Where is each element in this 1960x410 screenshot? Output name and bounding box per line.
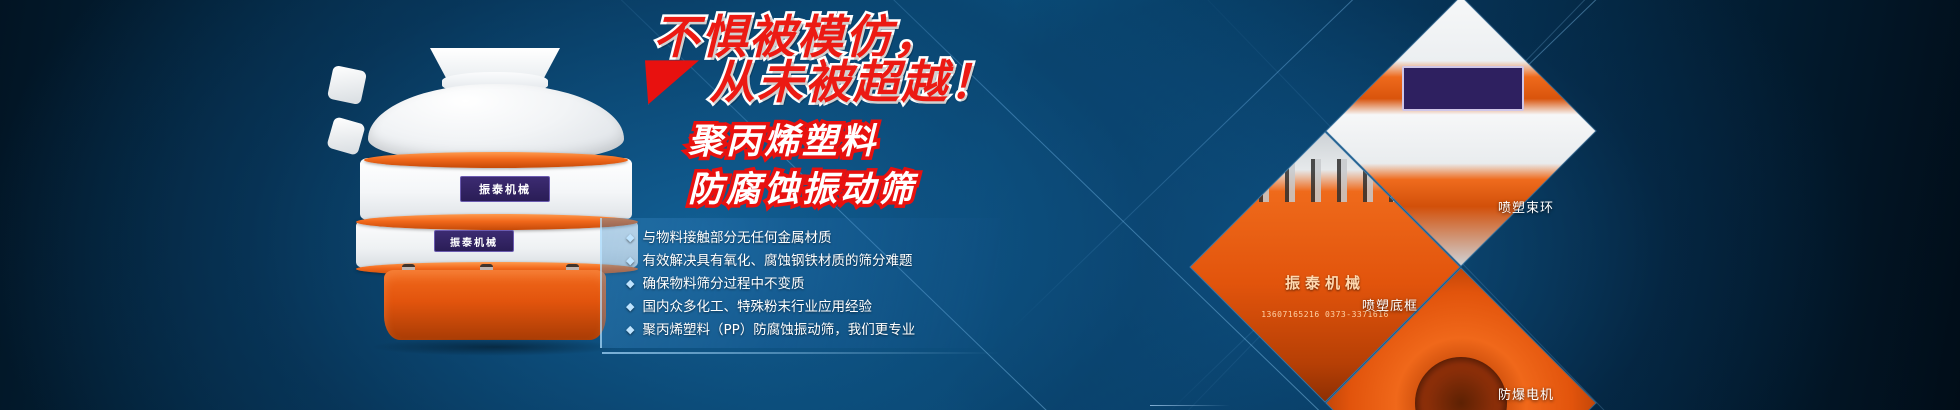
- diamond-bullet-icon: ◆: [626, 278, 634, 289]
- promo-banner: 振泰机械 振泰机械 不惧被模仿， 从未被超越！ 聚丙烯塑料 防腐蚀振动筛 ◆ 与…: [0, 0, 1960, 410]
- subheadline-line-2: 防腐蚀振动筛: [688, 170, 916, 210]
- subheadline-line-1: 聚丙烯塑料: [688, 122, 878, 162]
- product-discharge-spout-outlet: [326, 116, 366, 156]
- headline-row-2: 从未被超越！: [645, 59, 1165, 106]
- product-clamp-ring: [364, 152, 628, 168]
- list-item: ◆ 有效解决具有氧化、腐蚀钢铁材质的筛分难题: [626, 255, 1000, 269]
- headline-line-1: 不惧被模仿，: [653, 14, 941, 61]
- diamond-bullet-icon: ◆: [626, 255, 634, 266]
- product-ground-shadow: [370, 338, 620, 356]
- subheadline-row-1: 聚丙烯塑料: [688, 122, 916, 162]
- headline-row-1: 不惧被模仿，: [645, 14, 1165, 61]
- diamond-bullet-icon: ◆: [626, 324, 634, 335]
- list-item: ◆ 国内众多化工、特殊粉末行业应用经验: [626, 301, 1000, 315]
- detail-tile-caption: 喷塑束环: [1498, 197, 1554, 216]
- product-brand-plate: 振泰机械: [460, 176, 550, 202]
- subheadline-block: 聚丙烯塑料 防腐蚀振动筛: [688, 122, 916, 219]
- feature-list: ◆ 与物料接触部分无任何金属材质 ◆ 有效解决具有氧化、腐蚀钢铁材质的筛分难题 …: [600, 218, 1000, 348]
- detail-tile-caption: 防爆电机: [1498, 384, 1554, 403]
- list-item: ◆ 聚丙烯塑料（PP）防腐蚀振动筛，我们更专业: [626, 324, 1000, 338]
- product-base-frame: [384, 270, 606, 340]
- product-brand-plate: 振泰机械: [434, 230, 514, 252]
- list-item-label: 与物料接触部分无任何金属材质: [642, 232, 831, 246]
- detail-tile-caption: 喷塑底框: [1362, 295, 1418, 314]
- list-item-label: 有效解决具有氧化、腐蚀钢铁材质的筛分难题: [642, 255, 912, 269]
- triangle-arrow-icon: [645, 60, 699, 104]
- list-item: ◆ 确保物料筛分过程中不变质: [626, 278, 1000, 292]
- list-item: ◆ 与物料接触部分无任何金属材质: [626, 232, 1000, 246]
- list-item-label: 确保物料筛分过程中不变质: [642, 278, 804, 292]
- headline-block: 不惧被模仿， 从未被超越！: [645, 14, 1165, 106]
- detail-photo-cluster: 振泰机械 13607165216 0373-3371616 喷塑束环 喷塑底框 …: [1150, 0, 1650, 410]
- diamond-bullet-icon: ◆: [626, 232, 634, 243]
- headline-line-2: 从未被超越！: [709, 59, 997, 106]
- subheadline-row-2: 防腐蚀振动筛: [688, 170, 916, 210]
- list-item-label: 国内众多化工、特殊粉末行业应用经验: [642, 301, 872, 315]
- list-item-label: 聚丙烯塑料（PP）防腐蚀振动筛，我们更专业: [642, 324, 915, 338]
- diamond-bullet-icon: ◆: [626, 301, 634, 312]
- photo-brand-text: 振泰机械: [1228, 272, 1422, 293]
- bottom-rule-decoration: [1150, 405, 1230, 406]
- product-top-cover: [368, 84, 624, 162]
- product-clamp-ring: [356, 214, 638, 230]
